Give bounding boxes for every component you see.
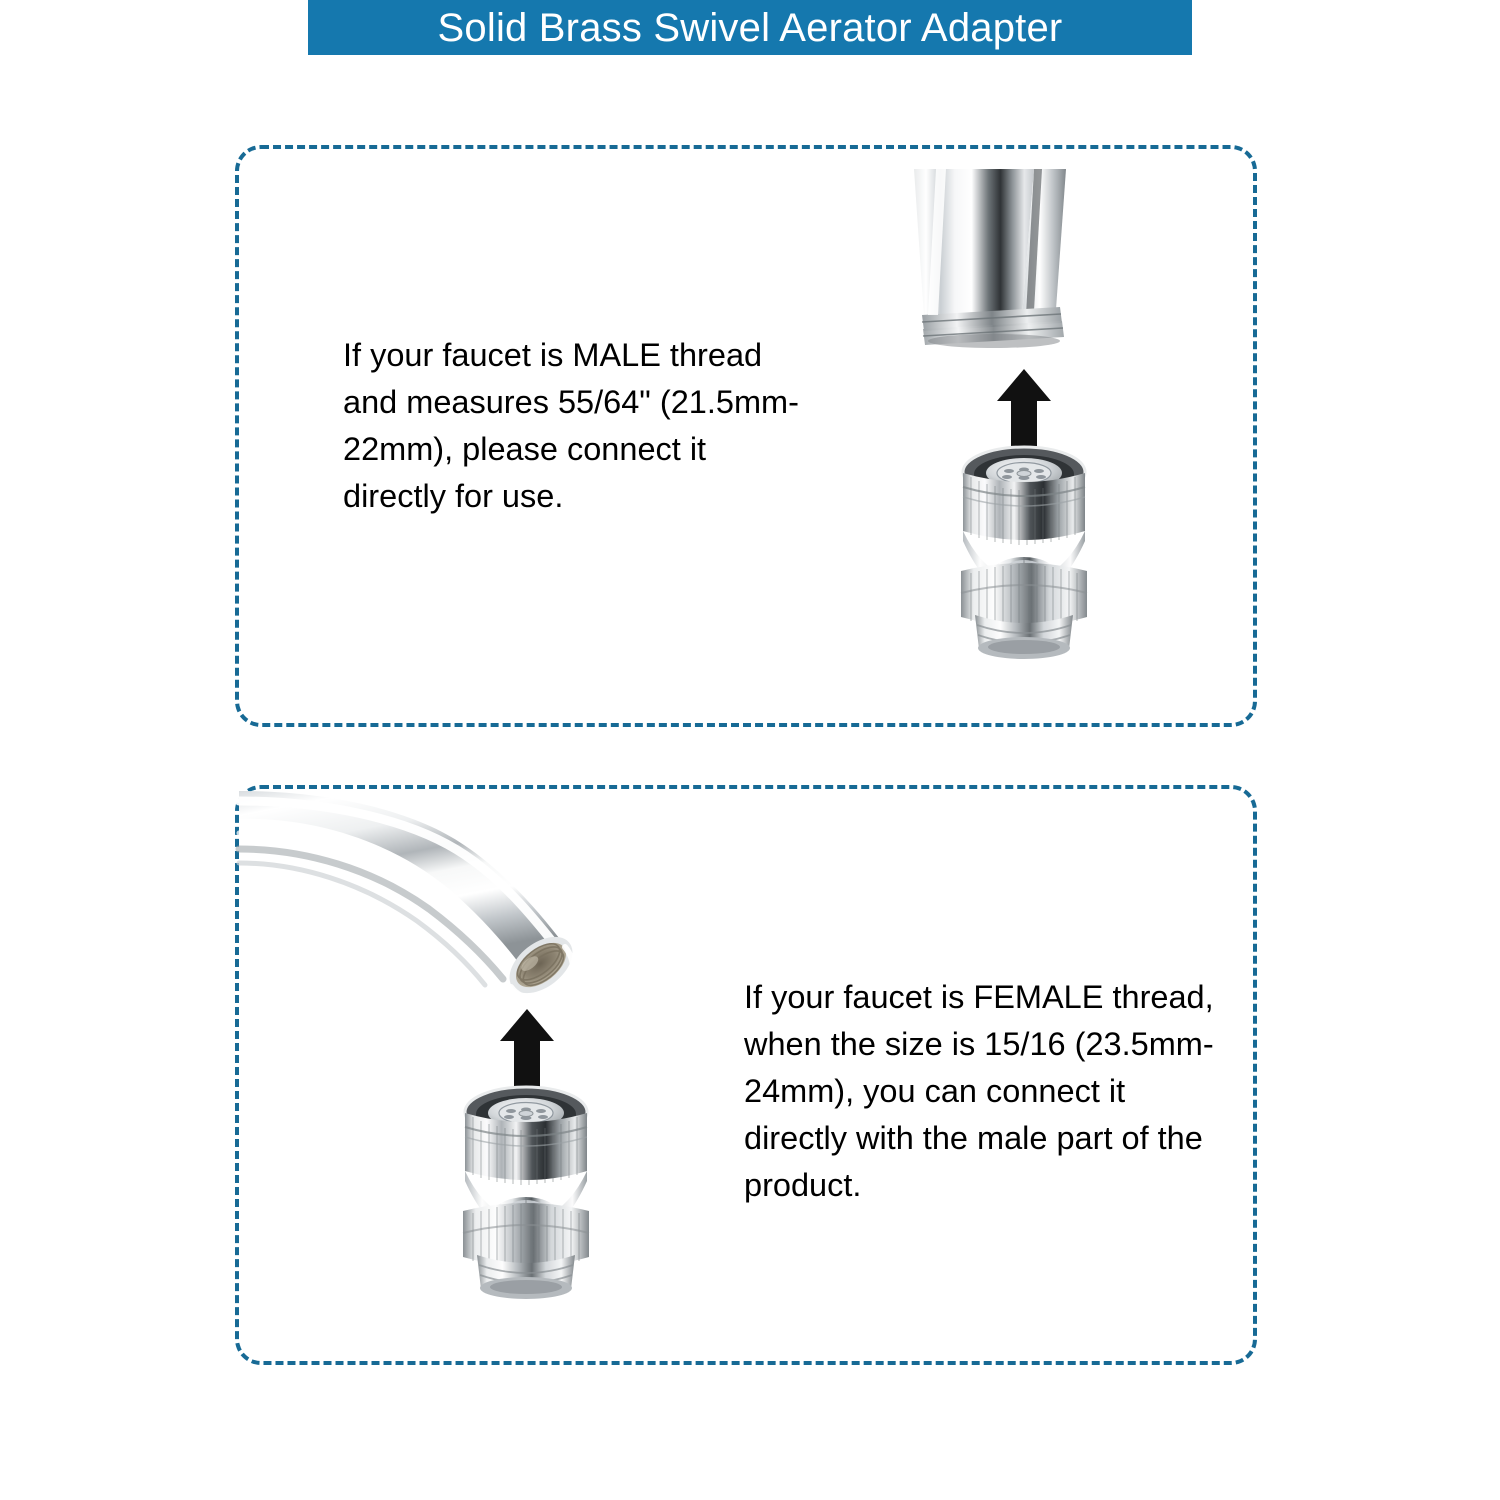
swivel-aerator-adapter-icon (451, 1085, 601, 1300)
faucet-spout-straight-icon (884, 189, 1114, 349)
male-thread-instruction-text: If your faucet is MALE thread and measur… (343, 332, 813, 520)
female-thread-instruction-text: If your faucet is FEMALE thread, when th… (744, 974, 1224, 1209)
male-thread-panel: If your faucet is MALE thread and measur… (235, 145, 1257, 727)
faucet-spout-curved-icon (269, 809, 599, 1009)
swivel-aerator-adapter-icon (949, 445, 1099, 660)
page-title: Solid Brass Swivel Aerator Adapter (438, 8, 1063, 48)
header-banner: Solid Brass Swivel Aerator Adapter (308, 0, 1192, 55)
female-thread-panel: If your faucet is FEMALE thread, when th… (235, 785, 1257, 1365)
